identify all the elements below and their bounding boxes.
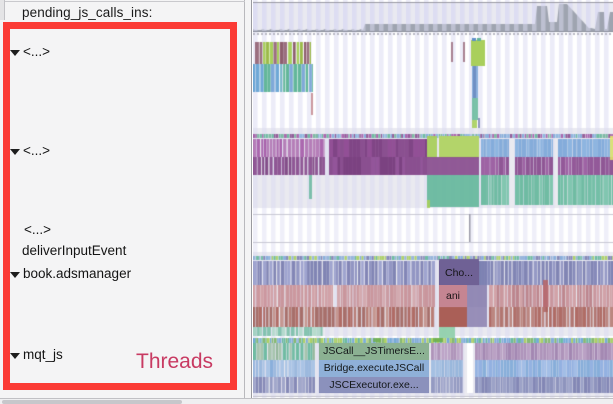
threads-annotation-label: Threads: [136, 350, 213, 374]
track-row-3[interactable]: deliverInputEvent: [22, 243, 126, 258]
perfetto-trace-viewer: pending_js_calls_ins: <...> <...> <...> …: [0, 0, 613, 404]
track-label-text: <...>: [24, 222, 51, 237]
track-row-1[interactable]: <...>: [10, 143, 50, 158]
track-row-0[interactable]: <...>: [10, 44, 50, 59]
timeline-left-gutter: [246, 0, 252, 404]
slice-0[interactable]: Cho...: [439, 261, 479, 285]
slice-2[interactable]: JSCall__JSTimersE...: [319, 343, 429, 360]
scrollbar-thumb[interactable]: [2, 400, 182, 404]
chevron-down-icon[interactable]: [10, 272, 20, 278]
slice-4[interactable]: JSCExecutor.exe...: [319, 377, 429, 393]
timeline-canvas[interactable]: Cho...aniJSCall__JSTimersE...Bridge.exec…: [253, 0, 613, 404]
horizontal-scrollbar[interactable]: [0, 398, 613, 404]
chevron-down-icon[interactable]: [10, 149, 20, 155]
track-row-5[interactable]: mqt_js: [10, 347, 63, 362]
panel-top-divider: [0, 1, 245, 2]
track-label-text: deliverInputEvent: [22, 243, 126, 258]
track-name-panel: pending_js_calls_ins: <...> <...> <...> …: [0, 0, 245, 404]
slice-3[interactable]: Bridge.executeJSCall: [319, 360, 429, 377]
chevron-down-icon[interactable]: [10, 353, 20, 359]
flamechart-canvas[interactable]: [253, 0, 613, 404]
chevron-down-icon[interactable]: [10, 50, 20, 56]
slice-1[interactable]: ani: [439, 285, 467, 307]
track-label-text: book.adsmanager: [23, 266, 131, 281]
track-row-4[interactable]: book.adsmanager: [10, 266, 131, 281]
track-label-text: <...>: [23, 44, 50, 59]
timeline-panel[interactable]: Cho...aniJSCall__JSTimersE...Bridge.exec…: [246, 0, 613, 404]
track-label-text: <...>: [23, 143, 50, 158]
track-label-text: mqt_js: [23, 347, 63, 362]
counter-track-title: pending_js_calls_ins:: [22, 5, 152, 20]
panel-left-gutter: [0, 0, 5, 20]
track-row-2[interactable]: <...>: [24, 222, 51, 237]
